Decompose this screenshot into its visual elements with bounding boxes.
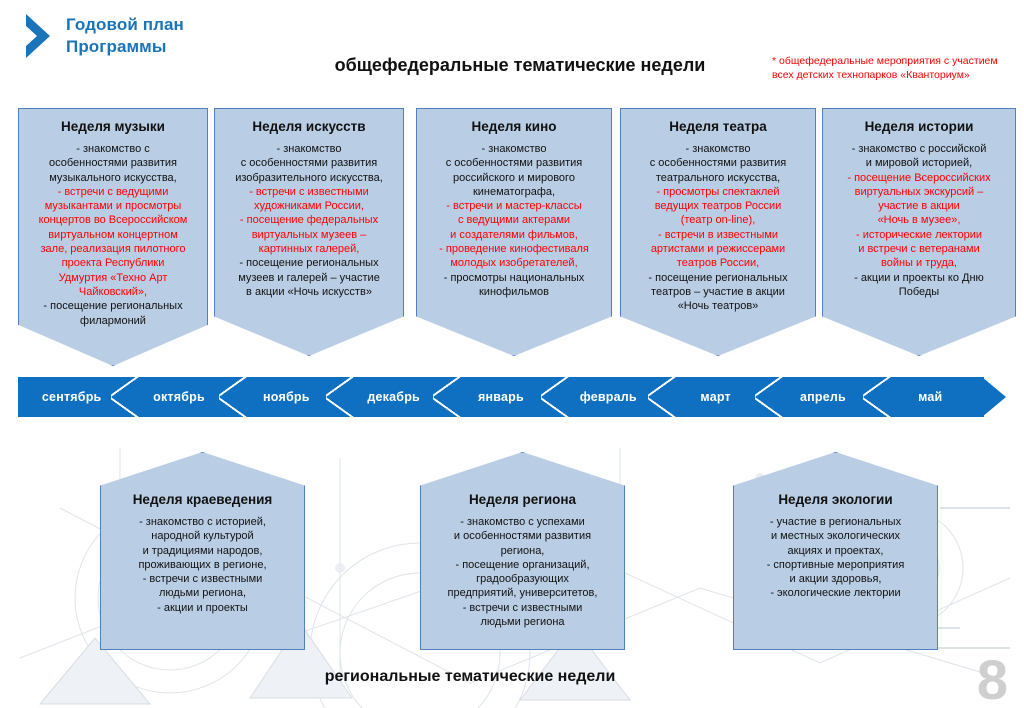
timeline-month-сентябрь[interactable]: сентябрь: [18, 377, 125, 417]
card-line: и акции здоровья,: [742, 572, 929, 586]
timeline-arrow-head: [982, 377, 1006, 417]
card-line: - знакомство: [627, 142, 809, 156]
card-line: - спортивные мероприятия: [742, 558, 929, 572]
card-line: участие в акции: [829, 199, 1009, 213]
card-line: - встречи с известными: [221, 185, 397, 199]
card-line: ведущих театров России: [627, 199, 809, 213]
card-line: войны и труда,: [829, 256, 1009, 270]
card-line: российского и мирового: [423, 171, 605, 185]
card-line: - посещение региональных: [627, 271, 809, 285]
federal_weeks-card: Неделя театра- знакомствос особенностями…: [620, 108, 816, 356]
card-body: - знакомствос особенностями развитияросс…: [423, 142, 605, 299]
card-body: - знакомство сособенностями развитиямузы…: [25, 142, 201, 328]
card-line: музеев и галерей – участие: [221, 271, 397, 285]
card-line: - знакомство: [221, 142, 397, 156]
card-line: Удмуртия «Техно Арт: [25, 271, 201, 285]
card-line: виртуальных музеев –: [221, 228, 397, 242]
card-line: картинных галерей,: [221, 242, 397, 256]
card-line: в акции «Ночь искусств»: [221, 285, 397, 299]
card-line: «Ночь в музее»,: [829, 213, 1009, 227]
card-line: - знакомство с историей,: [109, 515, 296, 529]
card-line: кинематографа,: [423, 185, 605, 199]
card-line: театров России,: [627, 256, 809, 270]
card-line: - акции и проекты ко Дню: [829, 271, 1009, 285]
card-line: молодых изобретателей,: [423, 256, 605, 270]
card-line: - акции и проекты: [109, 601, 296, 615]
federal_weeks-card: Неделя искусств- знакомствос особенностя…: [214, 108, 404, 356]
card-line: - встречи в известными: [627, 228, 809, 242]
card-line: - просмотры национальных: [423, 271, 605, 285]
card-line: и традициями народов,: [109, 544, 296, 558]
card-line: предприятий, университетов,: [429, 586, 616, 600]
card-line: - исторические лектории: [829, 228, 1009, 242]
timeline-month-list: сентябрьоктябрьноябрьдекабрьянварьфеврал…: [18, 377, 984, 417]
timeline-month-декабрь[interactable]: декабрь: [340, 377, 447, 417]
card-line: - посещение организаций,: [429, 558, 616, 572]
card-line: - встречи с ведущими: [25, 185, 201, 199]
timeline-month-апрель[interactable]: апрель: [769, 377, 876, 417]
card-line: и создателями фильмов,: [423, 228, 605, 242]
card-line: - экологические лектории: [742, 586, 929, 600]
card-line: - знакомство: [423, 142, 605, 156]
chevron-right-icon: [22, 12, 58, 60]
federal_weeks-card: Неделя кино- знакомствос особенностями р…: [416, 108, 612, 356]
card-line: и особенностями развития: [429, 529, 616, 543]
card-line: «Ночь театров»: [627, 299, 809, 313]
card-line: концертов во Всероссийском: [25, 213, 201, 227]
card-line: Победы: [829, 285, 1009, 299]
card-line: с особенностями развития: [627, 156, 809, 170]
card-line: Чайковский»,: [25, 285, 201, 299]
timeline-month-ноябрь[interactable]: ноябрь: [233, 377, 340, 417]
card-line: акциях и проектах,: [742, 544, 929, 558]
timeline-month-январь[interactable]: январь: [447, 377, 554, 417]
card-line: региона,: [429, 544, 616, 558]
card-line: - посещение Всероссийских: [829, 171, 1009, 185]
card-line: - знакомство с успехами: [429, 515, 616, 529]
card-line: - посещение региональных: [25, 299, 201, 313]
card-body: - знакомство с историей,народной культур…: [109, 515, 296, 615]
card-line: и мировой историей,: [829, 156, 1009, 170]
card-line: проживающих в регионе,: [109, 558, 296, 572]
regional_weeks-card: Неделя региона- знакомство с успехамии о…: [420, 452, 625, 650]
card-line: - проведение кинофестиваля: [423, 242, 605, 256]
card-line: и местных экологических: [742, 529, 929, 543]
card-body: - знакомство с российскойи мировой истор…: [829, 142, 1009, 299]
card-title: Неделя региона: [429, 491, 616, 508]
slide-canvas: Годовой план Программы общефедеральные т…: [0, 0, 1024, 708]
card-line: виртуальных экскурсий –: [829, 185, 1009, 199]
card-line: людьми региона,: [109, 586, 296, 600]
regional_weeks-card: Неделя экологии- участие в региональныхи…: [733, 452, 938, 650]
card-line: и встречи с ветеранами: [829, 242, 1009, 256]
brand-line-1: Годовой план: [66, 14, 184, 36]
card-line: филармоний: [25, 314, 201, 328]
card-body: - знакомствос особенностями развитияизоб…: [221, 142, 397, 299]
card-title: Неделя экологии: [742, 491, 929, 508]
card-title: Неделя музыки: [25, 118, 201, 135]
card-line: особенностями развития: [25, 156, 201, 170]
card-line: - участие в региональных: [742, 515, 929, 529]
card-title: Неделя искусств: [221, 118, 397, 135]
card-line: - посещение региональных: [221, 256, 397, 270]
slide-header: Годовой план Программы общефедеральные т…: [0, 0, 1024, 96]
timeline-month-февраль[interactable]: февраль: [555, 377, 662, 417]
card-line: с ведущими актерами: [423, 213, 605, 227]
month-timeline: сентябрьоктябрьноябрьдекабрьянварьфеврал…: [18, 377, 1006, 417]
card-line: художниками России,: [221, 199, 397, 213]
page-number: 8: [977, 652, 1008, 708]
card-line: театров – участие в акции: [627, 285, 809, 299]
card-line: людьми региона: [429, 615, 616, 629]
card-title: Неделя кино: [423, 118, 605, 135]
timeline-month-март[interactable]: март: [662, 377, 769, 417]
regional_weeks-card: Неделя краеведения- знакомство с историе…: [100, 452, 305, 650]
card-title: Неделя краеведения: [109, 491, 296, 508]
federal-weeks-row: Неделя музыки- знакомство сособенностями…: [0, 108, 1024, 373]
card-line: народной культурой: [109, 529, 296, 543]
card-line: музыкантами и просмотры: [25, 199, 201, 213]
timeline-month-октябрь[interactable]: октябрь: [125, 377, 232, 417]
card-line: с особенностями развития: [221, 156, 397, 170]
card-line: - посещение федеральных: [221, 213, 397, 227]
card-line: проекта Республики: [25, 256, 201, 270]
card-line: кинофильмов: [423, 285, 605, 299]
card-line: - знакомство с российской: [829, 142, 1009, 156]
card-line: - встречи с известными: [429, 601, 616, 615]
card-line: артистами и режиссерами: [627, 242, 809, 256]
card-title: Неделя истории: [829, 118, 1009, 135]
card-line: - встречи и мастер-классы: [423, 199, 605, 213]
card-body: - знакомство с успехамии особенностями р…: [429, 515, 616, 629]
brand-title: Годовой план Программы: [66, 14, 184, 58]
page-title: общефедеральные тематические недели: [300, 55, 740, 76]
card-line: (театр on-line),: [627, 213, 809, 227]
card-line: виртуальном концертном: [25, 228, 201, 242]
card-line: - встречи с известными: [109, 572, 296, 586]
card-line: градообразующих: [429, 572, 616, 586]
card-line: изобразительного искусства,: [221, 171, 397, 185]
card-line: зале, реализация пилотного: [25, 242, 201, 256]
card-line: с особенностями развития: [423, 156, 605, 170]
footnote-kvantorium: * общефедеральные мероприятия с участием…: [772, 55, 1020, 82]
federal_weeks-card: Неделя истории- знакомство с российскойи…: [822, 108, 1016, 356]
footer-caption: региональные тематические недели: [210, 668, 730, 686]
card-line: - знакомство с: [25, 142, 201, 156]
card-title: Неделя театра: [627, 118, 809, 135]
regional-weeks-row: Неделя краеведения- знакомство с историе…: [0, 452, 1024, 657]
card-line: музыкального искусства,: [25, 171, 201, 185]
card-line: - просмотры спектаклей: [627, 185, 809, 199]
card-line: театрального искусства,: [627, 171, 809, 185]
timeline-month-май[interactable]: май: [877, 377, 984, 417]
federal_weeks-card: Неделя музыки- знакомство сособенностями…: [18, 108, 208, 366]
card-body: - знакомствос особенностями развитиятеат…: [627, 142, 809, 314]
brand-line-2: Программы: [66, 36, 184, 58]
card-body: - участие в региональныхи местных эколог…: [742, 515, 929, 601]
